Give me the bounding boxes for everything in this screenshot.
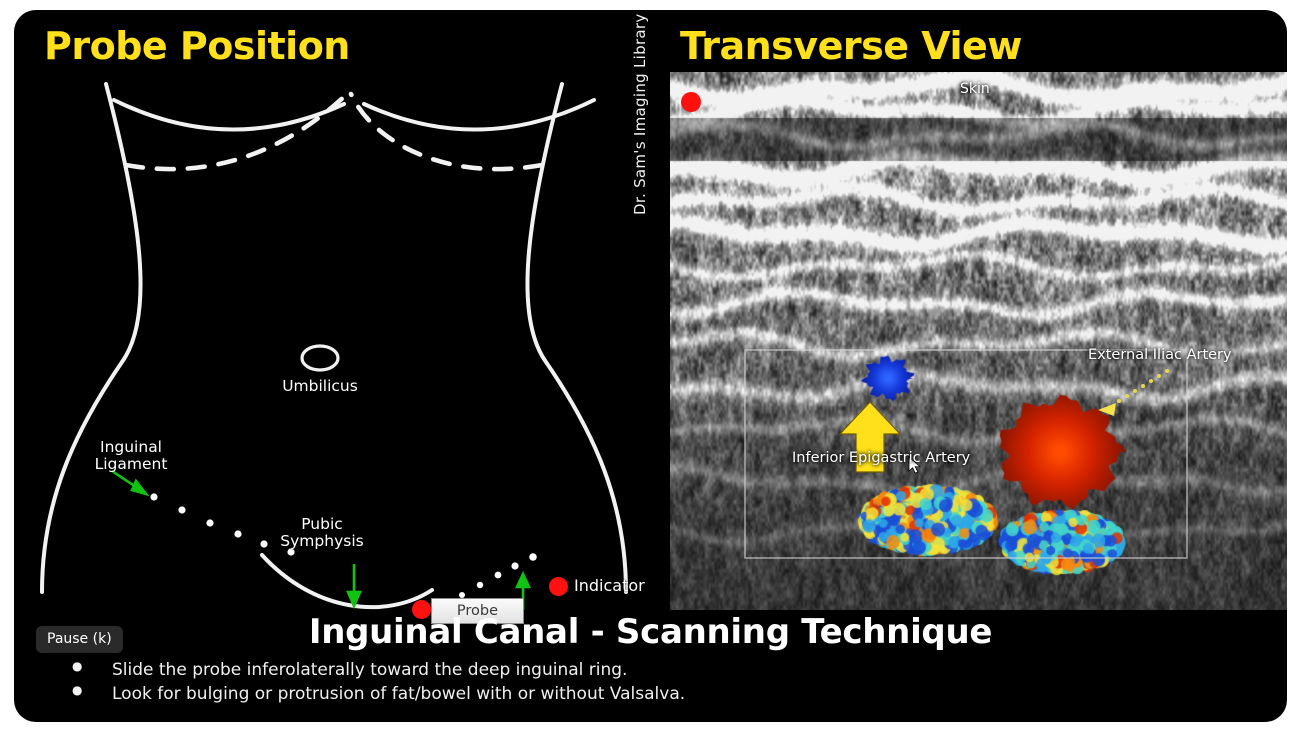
inferior-epigastric-artery-label: Inferior Epigastric Artery bbox=[792, 450, 970, 466]
inguinal-ligament-label: Inguinal Ligament bbox=[66, 439, 196, 474]
bullet-item: Slide the probe inferolaterally toward t… bbox=[54, 658, 685, 682]
skin-label: Skin bbox=[960, 81, 990, 97]
technique-bullet-list: Slide the probe inferolaterally toward t… bbox=[54, 658, 685, 706]
left-dashed-border-path bbox=[126, 94, 347, 169]
probe-position-title: Probe Position bbox=[44, 24, 350, 68]
ultrasound-image-panel: Skin External Iliac Artery Inferior Epig… bbox=[670, 72, 1287, 610]
pubic-symphysis-arrow bbox=[348, 564, 360, 606]
content-card: Probe Position bbox=[14, 10, 1287, 722]
umbilicus-marker bbox=[302, 346, 338, 370]
slide-root: Probe Position bbox=[0, 0, 1301, 745]
pubic-symphysis-label: Pubic Symphysis bbox=[262, 516, 382, 551]
right-costal-margin-path bbox=[364, 100, 594, 130]
bullet-item: Look for bulging or protrusion of fat/bo… bbox=[54, 682, 685, 706]
pubic-curve-path bbox=[262, 555, 432, 607]
indicator-legend-label: Indicator bbox=[574, 577, 664, 595]
probe-indicator-dot-icon bbox=[681, 92, 701, 112]
inguinal-ligament-arrow bbox=[112, 471, 146, 494]
right-torso-outline-path bbox=[527, 84, 626, 592]
external-iliac-pointer-line bbox=[1098, 369, 1169, 416]
transverse-view-title: Transverse View bbox=[680, 24, 1022, 68]
umbilicus-label: Umbilicus bbox=[260, 378, 380, 395]
slide-caption-title: Inguinal Canal - Scanning Technique bbox=[14, 612, 1287, 652]
indicator-legend-dot-icon bbox=[549, 577, 568, 596]
watermark-text: Dr. Sam's Imaging Library bbox=[631, 13, 649, 215]
right-dashed-border-path bbox=[351, 94, 542, 169]
probe-position-diagram: Umbilicus Inguinal Ligament Pubic Symphy… bbox=[14, 72, 659, 610]
ultrasound-annotation-overlay bbox=[670, 72, 1287, 610]
left-torso-outline-path bbox=[42, 84, 141, 592]
external-iliac-artery-label: External Iliac Artery bbox=[1088, 347, 1232, 363]
pause-button[interactable]: Pause (k) bbox=[36, 626, 123, 653]
